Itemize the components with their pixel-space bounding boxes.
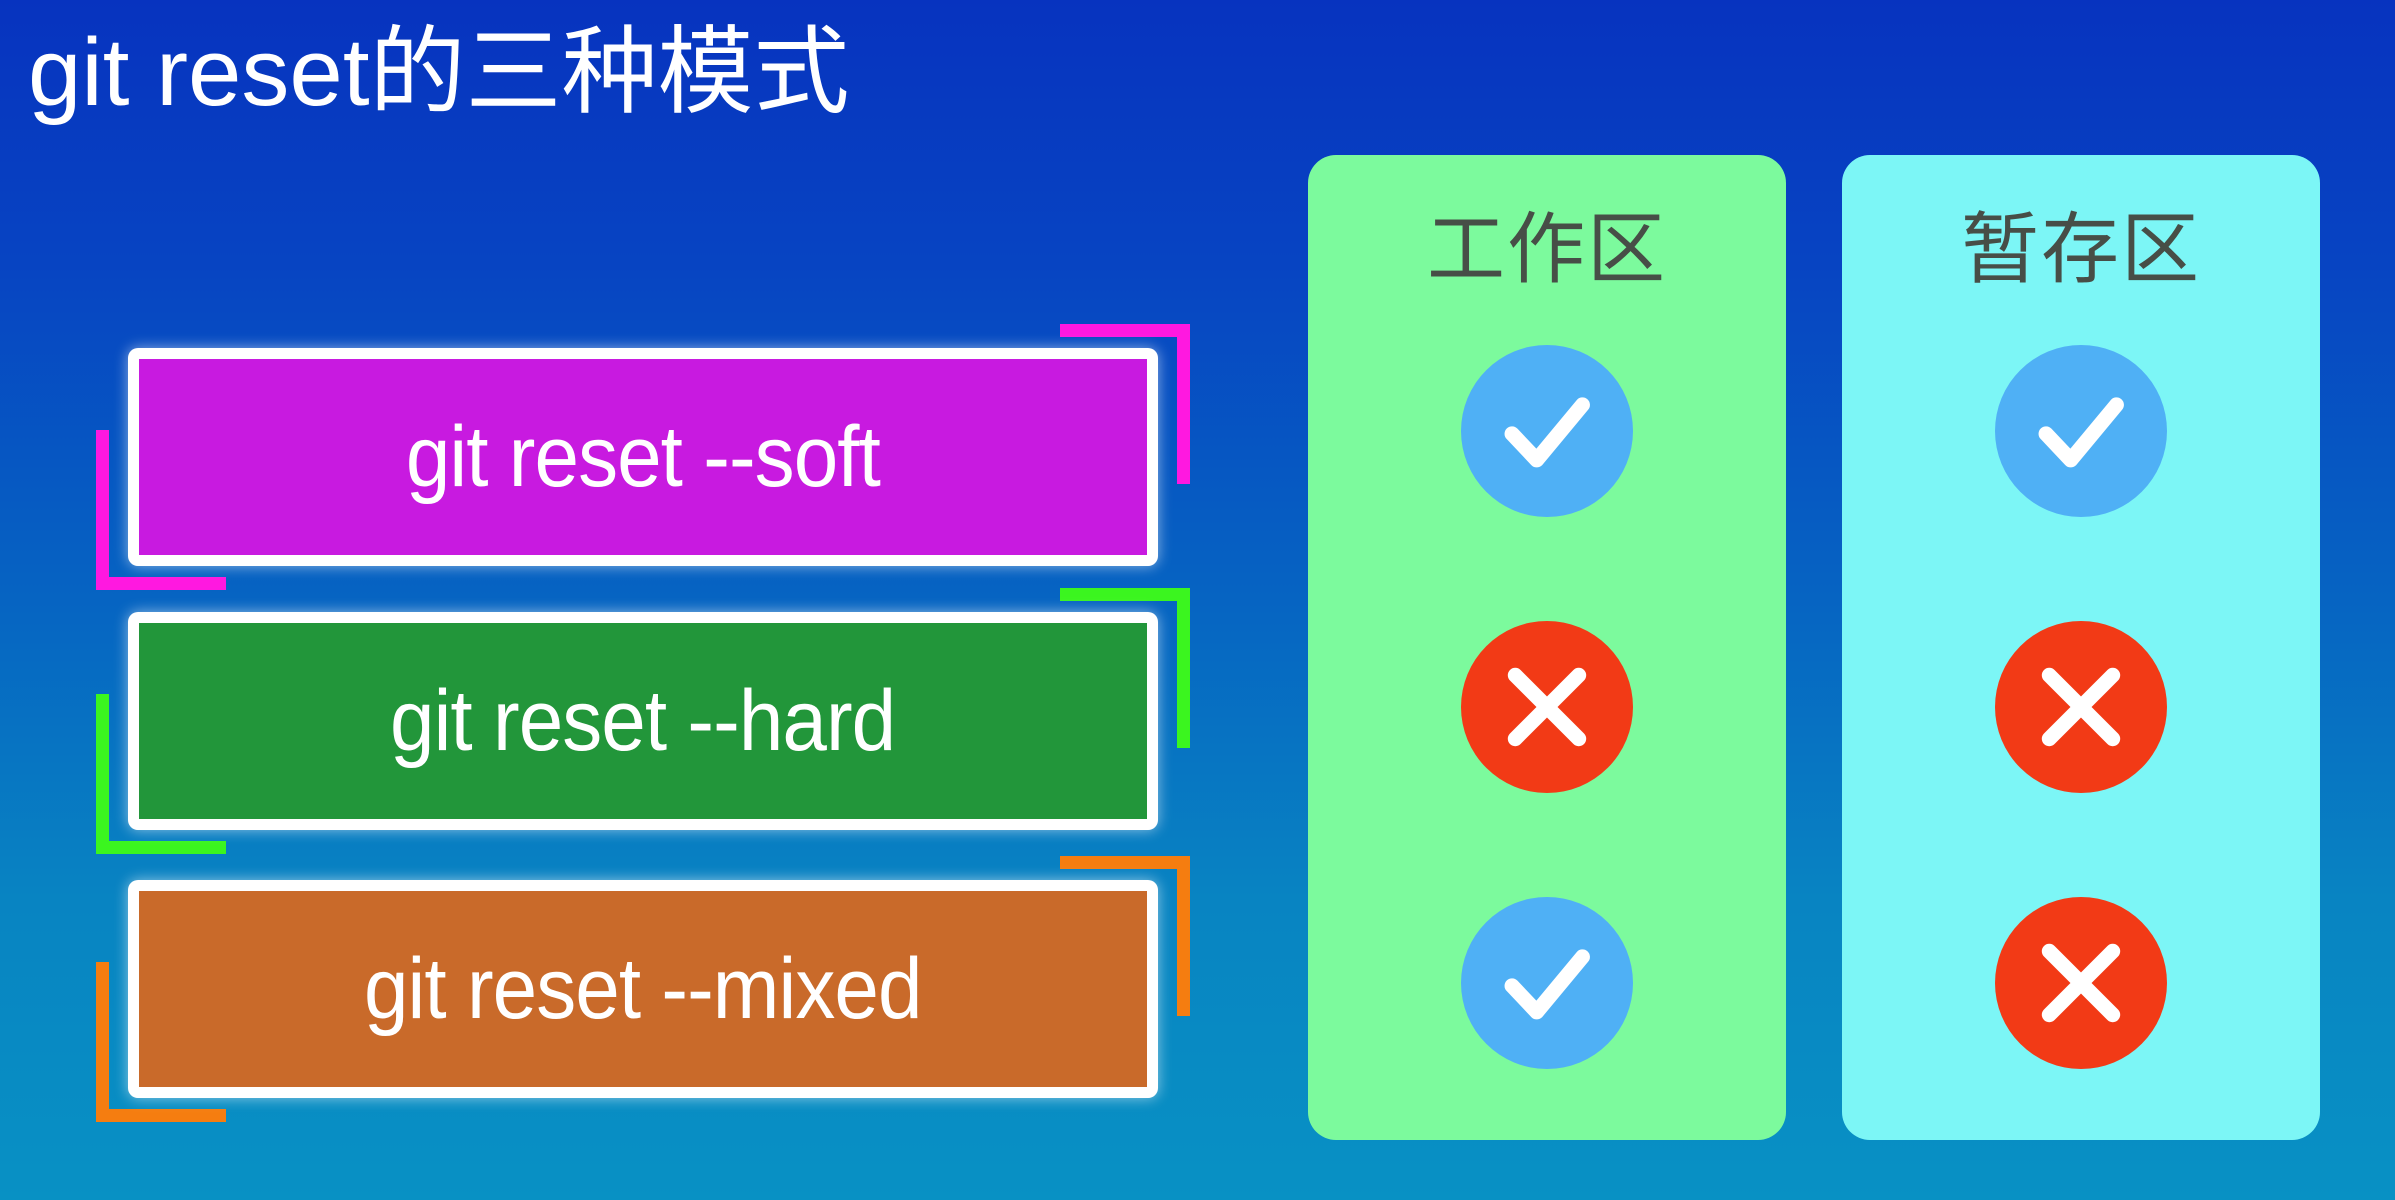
mark-list-working-directory [1461, 345, 1633, 1069]
panel-title-staging-area: 暂存区 [1961, 187, 2201, 299]
panel-staging-area: 暂存区 [1842, 155, 2320, 1140]
command-box-hard[interactable]: git reset --hard [128, 612, 1158, 830]
command-label-hard: git reset --hard [390, 672, 895, 771]
check-icon [1461, 345, 1633, 517]
check-icon [1995, 345, 2167, 517]
cross-icon [1995, 897, 2167, 1069]
command-row-soft: git reset --soft [128, 348, 1158, 566]
page-title: git reset的三种模式 [28, 16, 849, 129]
command-box-mixed[interactable]: git reset --mixed [128, 880, 1158, 1098]
command-row-hard: git reset --hard [128, 612, 1158, 830]
panel-title-working-directory: 工作区 [1427, 187, 1667, 299]
command-label-mixed: git reset --mixed [364, 940, 922, 1039]
cross-icon [1461, 621, 1633, 793]
command-box-soft[interactable]: git reset --soft [128, 348, 1158, 566]
panel-working-directory: 工作区 [1308, 155, 1786, 1140]
slide-canvas: git reset的三种模式 git reset --soft git rese… [0, 0, 2395, 1200]
cross-icon [1995, 621, 2167, 793]
mark-list-staging-area [1995, 345, 2167, 1069]
check-icon [1461, 897, 1633, 1069]
command-label-soft: git reset --soft [406, 408, 880, 507]
command-row-mixed: git reset --mixed [128, 880, 1158, 1098]
